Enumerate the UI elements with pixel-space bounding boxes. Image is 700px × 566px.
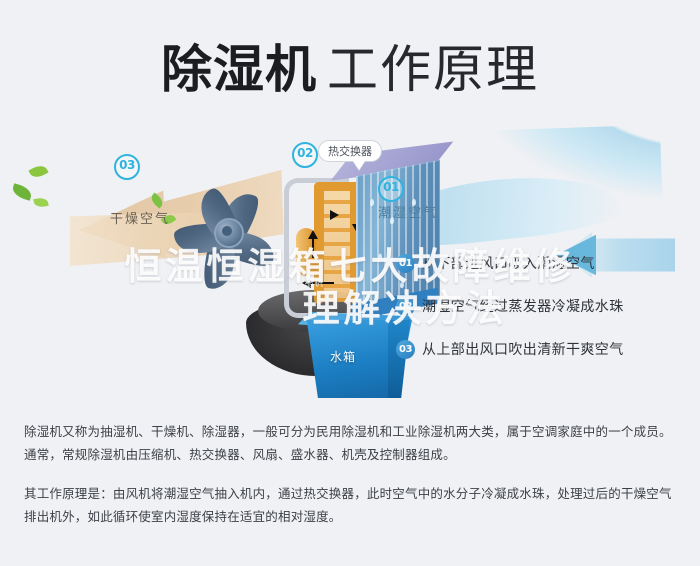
list-item: 01 从下部进风口吸入潮湿空气 (396, 252, 696, 274)
step-text: 从上部出风口吹出清新干爽空气 (422, 339, 624, 359)
page-title: 除湿机工作原理 (0, 28, 700, 102)
flow-line (312, 232, 314, 258)
list-item: 03 从上部出风口吹出清新干爽空气 (396, 338, 696, 360)
diagram-badge-03: 03 (114, 154, 140, 180)
diagram-badge-02: 02 (292, 142, 318, 168)
step-text: 潮湿空气经过蒸发器冷凝成水珠 (422, 296, 624, 316)
page-title-primary: 除湿机 (161, 41, 317, 100)
page-root: 除湿机工作原理 (0, 0, 700, 566)
fan-illustration (176, 178, 286, 296)
heat-exchanger-callout: 热交换器 (318, 140, 382, 162)
body-copy: 除湿机又称为抽湿机、干燥机、除湿器，一般可分为民用除湿机和工业除湿机两大类，属于… (24, 420, 680, 544)
step-number-badge: 01 (396, 254, 415, 273)
water-tank-label: 水箱 (330, 348, 356, 365)
step-number-badge: 03 (396, 340, 415, 359)
leaf-icon (11, 183, 34, 201)
list-item: 02 潮湿空气经过蒸发器冷凝成水珠 (396, 295, 696, 317)
leaf-icon (33, 197, 48, 208)
leaf-icon (28, 163, 48, 181)
paragraph-1: 除湿机又称为抽湿机、干燥机、除湿器，一般可分为民用除湿机和工业除湿机两大类，属于… (24, 420, 680, 466)
moist-air-label: 潮湿空气 (378, 202, 438, 221)
compressor-label: 压缩机 (295, 276, 324, 289)
fan-hub-center (222, 226, 232, 236)
coil-tube (314, 182, 360, 191)
page-title-secondary: 工作原理 (327, 41, 539, 100)
step-text: 从下部进风口吸入潮湿空气 (422, 253, 595, 273)
diagram-badge-01: 01 (378, 176, 404, 202)
paragraph-2: 其工作原理是：由风机将潮湿空气抽入机内，通过热交换器，此时空气中的水分子冷凝成水… (24, 482, 680, 528)
step-number-badge: 02 (396, 297, 415, 316)
steps-list: 01 从下部进风口吸入潮湿空气 02 潮湿空气经过蒸发器冷凝成水珠 03 从上部… (396, 252, 696, 381)
dry-air-label: 干燥空气 (110, 208, 170, 227)
flow-arrow-right-icon (330, 210, 339, 220)
